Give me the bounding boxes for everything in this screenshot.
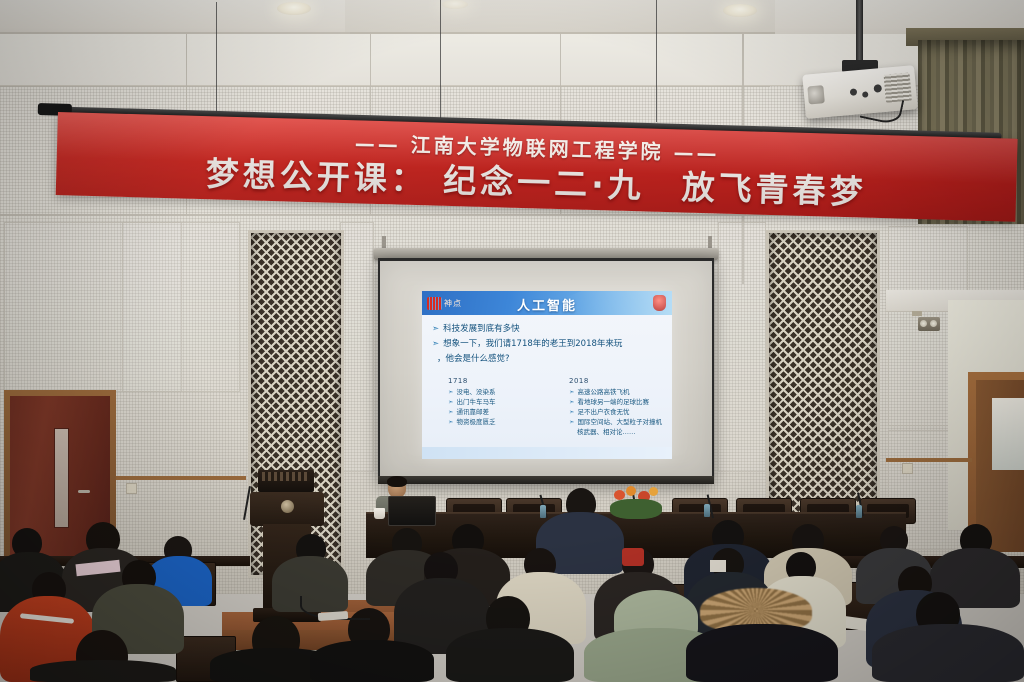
bullet-marker-icon: ➣ bbox=[432, 338, 439, 351]
audience-shoulders bbox=[872, 624, 1024, 682]
projector-lens bbox=[807, 85, 825, 104]
water-bottle bbox=[540, 505, 546, 518]
column-item: 核武器、相对论…… bbox=[569, 427, 666, 437]
flower-arrangement bbox=[608, 486, 664, 520]
column-item: ➣出门牛车马车 bbox=[448, 397, 545, 407]
lectern-control-panel[interactable] bbox=[262, 472, 310, 481]
column-year: 1718 bbox=[448, 377, 545, 385]
emergency-bulb bbox=[920, 320, 927, 327]
left-door-glass-panel bbox=[54, 428, 69, 528]
water-bottle bbox=[704, 504, 710, 517]
audience-shoulders bbox=[686, 624, 838, 682]
screen-bottom-bar bbox=[378, 476, 714, 484]
wall-chair-rail bbox=[116, 476, 246, 480]
cup bbox=[374, 508, 385, 519]
flower bbox=[649, 487, 658, 496]
item-text: 没电、没染系 bbox=[456, 387, 495, 397]
wall-outlet[interactable] bbox=[902, 463, 913, 474]
wall-panel bbox=[340, 222, 374, 472]
audience-shoulders bbox=[30, 660, 176, 682]
slide-seal-icon bbox=[653, 295, 666, 311]
slide-bullet: ➣ 科技发展到底有多快 bbox=[432, 323, 664, 336]
wall-chair-rail bbox=[886, 458, 972, 462]
column-item: ➣通讯靠邮差 bbox=[448, 407, 545, 417]
slide-bullet: ➣ 想象一下，我们请1718年的老王到2018年来玩 bbox=[432, 338, 664, 351]
slide-bullet-text: 想象一下，我们请1718年的老王到2018年来玩 bbox=[443, 338, 622, 351]
item-marker-icon: ➣ bbox=[569, 387, 574, 397]
speaker-hair bbox=[387, 476, 407, 487]
emergency-light-arm bbox=[912, 311, 922, 316]
water-bottle bbox=[856, 505, 862, 518]
column-item: ➣国际空间站、大型粒子对撞机 bbox=[569, 417, 666, 427]
slide-bullet-text: 科技发展到底有多快 bbox=[443, 323, 520, 336]
left-door-handle[interactable] bbox=[78, 490, 90, 493]
item-text: 国际空间站、大型粒子对撞机 bbox=[577, 417, 662, 427]
ceiling-light bbox=[723, 4, 757, 17]
wall-outlet[interactable] bbox=[126, 483, 137, 494]
slide-bullet-continuation: ，他会是什么感觉? bbox=[432, 353, 664, 366]
item-marker-icon: ➣ bbox=[448, 387, 453, 397]
column-item: ➣看地球另一端的足球比赛 bbox=[569, 397, 666, 407]
slide-footer bbox=[422, 447, 672, 459]
clothing-badge bbox=[622, 548, 644, 566]
projection-screen: 神点 人工智能 ➣ 科技发展到底有多快 ➣ 想象一下，我们请1718年的老王到2… bbox=[378, 258, 714, 482]
item-text: 足不出户衣食无忧 bbox=[577, 407, 629, 417]
item-text: 高速公路高铁飞机 bbox=[577, 387, 629, 397]
wall-panel bbox=[718, 222, 766, 472]
slide-column-2018: 2018 ➣高速公路高铁飞机 ➣看地球另一端的足球比赛 ➣足不出户衣食无忧 ➣国… bbox=[569, 377, 666, 437]
ceiling-beam bbox=[345, 0, 775, 34]
audience-shoulders bbox=[310, 640, 434, 682]
flower-foliage bbox=[610, 499, 662, 519]
laptop[interactable] bbox=[388, 496, 436, 526]
wall-panel bbox=[122, 222, 240, 392]
projector-mount-pole bbox=[856, 0, 863, 66]
flower bbox=[626, 486, 636, 496]
banner-wire bbox=[216, 2, 217, 114]
item-marker-icon: ➣ bbox=[448, 397, 453, 407]
slide-title: 人工智能 bbox=[422, 295, 672, 314]
projector-knob bbox=[850, 88, 858, 96]
item-marker-icon: ➣ bbox=[448, 407, 453, 417]
bullet-marker-icon: ➣ bbox=[432, 323, 439, 336]
lecture-hall-photo: —— 江南大学物联网工程学院 —— 梦想公开课： 纪念一二·九 放飞青春梦 神点… bbox=[0, 0, 1024, 682]
ceiling-light bbox=[277, 2, 311, 15]
projected-slide: 神点 人工智能 ➣ 科技发展到底有多快 ➣ 想象一下，我们请1718年的老王到2… bbox=[422, 291, 672, 459]
column-item: ➣足不出户衣食无忧 bbox=[569, 407, 666, 417]
banner-wire bbox=[440, 0, 441, 118]
slide-header: 神点 人工智能 bbox=[422, 291, 672, 315]
ceiling-light bbox=[442, 0, 468, 9]
item-text: 核武器、相对论…… bbox=[577, 427, 636, 437]
item-marker-icon: ➣ bbox=[448, 417, 453, 427]
item-text: 物资极度匮乏 bbox=[456, 417, 495, 427]
projector-knob bbox=[873, 84, 882, 93]
item-text: 看地球另一端的足球比赛 bbox=[577, 397, 649, 407]
item-marker-icon: ➣ bbox=[569, 417, 574, 427]
wall-panel-seam bbox=[0, 86, 770, 87]
column-year: 2018 bbox=[569, 377, 666, 385]
slide-columns: 1718 ➣没电、没染系 ➣出门牛车马车 ➣通讯靠邮差 ➣物资极度匮乏 2018… bbox=[448, 377, 666, 437]
clothing-label bbox=[710, 560, 726, 572]
slide-column-1718: 1718 ➣没电、没染系 ➣出门牛车马车 ➣通讯靠邮差 ➣物资极度匮乏 bbox=[448, 377, 545, 437]
column-item: ➣物资极度匮乏 bbox=[448, 417, 545, 427]
emergency-light-icon bbox=[918, 317, 940, 331]
audience-shoulders bbox=[446, 628, 574, 682]
column-item: ➣高速公路高铁飞机 bbox=[569, 387, 666, 397]
item-text: 通讯靠邮差 bbox=[456, 407, 489, 417]
lectern-emblem-icon bbox=[281, 500, 294, 513]
slide-body: ➣ 科技发展到底有多快 ➣ 想象一下，我们请1718年的老王到2018年来玩 ，… bbox=[432, 323, 664, 365]
banner-wire bbox=[656, 0, 657, 122]
item-text: 出门牛车马车 bbox=[456, 397, 495, 407]
right-door-glass bbox=[992, 398, 1024, 470]
column-item: ➣没电、没染系 bbox=[448, 387, 545, 397]
emergency-bulb bbox=[930, 320, 937, 327]
item-marker-icon: ➣ bbox=[569, 397, 574, 407]
item-marker-icon: ➣ bbox=[569, 407, 574, 417]
